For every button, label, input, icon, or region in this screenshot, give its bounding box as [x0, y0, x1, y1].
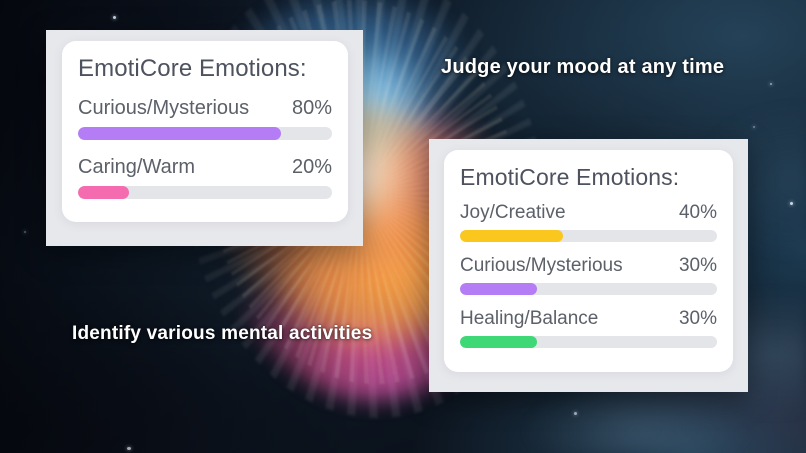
emotion-progress-fill [78, 186, 129, 199]
emotion-percent-value: 30% [679, 255, 717, 277]
emotion-row: Healing/Balance 30% [460, 308, 717, 348]
emotion-percent-value: 30% [679, 308, 717, 330]
screenshot-canvas: Judge your mood at any time Identify var… [0, 0, 806, 453]
emotion-row-header: Healing/Balance 30% [460, 308, 717, 330]
star-speck [24, 231, 26, 233]
caption-judge-your-mood: Judge your mood at any time [441, 56, 724, 79]
emotion-label: Healing/Balance [460, 308, 598, 330]
emotion-row-header: Joy/Creative 40% [460, 202, 717, 224]
card-1-title: EmotiCore Emotions: [78, 55, 332, 83]
emoticore-emotions-card-1[interactable]: EmotiCore Emotions: Curious/Mysterious 8… [62, 41, 348, 222]
star-speck [574, 412, 577, 415]
emotion-progress-fill [460, 230, 563, 242]
emotion-progress-track [460, 336, 717, 348]
emotion-row: Caring/Warm 20% [78, 156, 332, 199]
star-speck [753, 126, 755, 128]
emotion-percent-value: 40% [679, 202, 717, 224]
star-speck [113, 16, 116, 19]
star-speck [790, 202, 793, 205]
emotion-progress-fill [78, 127, 281, 140]
emotion-row: Curious/Mysterious 80% [78, 97, 332, 140]
emotion-row-header: Curious/Mysterious 30% [460, 255, 717, 277]
emoticore-emotions-card-2[interactable]: EmotiCore Emotions: Joy/Creative 40% Cur… [444, 150, 733, 372]
star-speck [770, 83, 772, 85]
emotion-progress-track [460, 283, 717, 295]
emotion-progress-fill [460, 283, 537, 295]
star-speck [127, 447, 131, 450]
emotion-row-header: Curious/Mysterious 80% [78, 97, 332, 120]
caption-identify-mental-activities: Identify various mental activities [72, 323, 372, 345]
emotion-row: Curious/Mysterious 30% [460, 255, 717, 295]
emotion-progress-track [78, 127, 332, 140]
emotion-label: Curious/Mysterious [78, 97, 249, 120]
emotion-label: Joy/Creative [460, 202, 566, 224]
emotion-row: Joy/Creative 40% [460, 202, 717, 242]
emotion-percent-value: 20% [292, 156, 332, 179]
emotion-progress-track [460, 230, 717, 242]
emotion-progress-track [78, 186, 332, 199]
emotion-label: Caring/Warm [78, 156, 195, 179]
card-2-title: EmotiCore Emotions: [460, 164, 717, 191]
emotion-label: Curious/Mysterious [460, 255, 623, 277]
emotion-progress-fill [460, 336, 537, 348]
emotion-row-header: Caring/Warm 20% [78, 156, 332, 179]
emotion-percent-value: 80% [292, 97, 332, 120]
